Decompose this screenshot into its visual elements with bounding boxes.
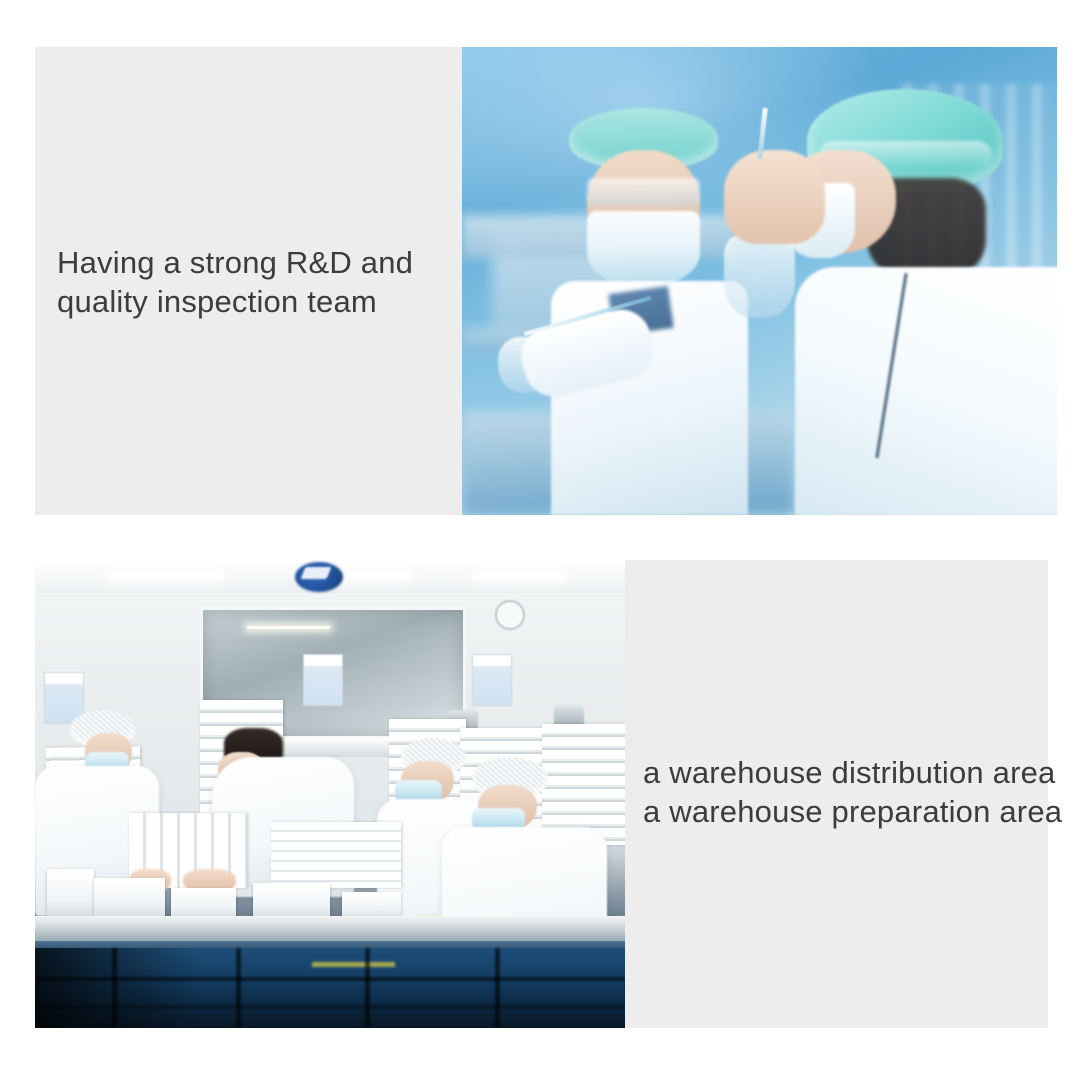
technician-two-raised-hand [724,150,825,244]
technician-two-lab-coat [795,267,1057,515]
technician-one-goggles [587,178,700,206]
warehouse-caption-line-1: a warehouse distribution area [643,753,1043,792]
wall-notice-sign-right [472,654,512,706]
table-leg-2 [236,948,241,1028]
rd-quality-caption: Having a strong R&D and quality inspecti… [57,243,457,321]
window-interior-light [247,626,330,629]
under-table-shadow [35,948,200,1028]
warehouse-packing-photo [35,560,625,1028]
table-box-1 [47,869,94,920]
floor-marking-tape [312,962,395,967]
glass-beaker [724,234,795,318]
warehouse-caption-line-2: a warehouse preparation area [643,792,1043,831]
rd-quality-caption-line-1: Having a strong R&D and [57,243,457,282]
ceiling-light-icon-1 [106,574,224,579]
rd-quality-caption-line-2: quality inspection team [57,282,457,321]
box-row-front-center [271,822,401,888]
table-box-2 [94,878,165,920]
wall-clock-icon [495,600,525,630]
warehouse-caption: a warehouse distribution area a warehous… [643,753,1043,831]
ceiling-light-icon-3 [472,574,566,579]
table-leg-4 [495,948,500,1028]
wall-notice-sign-center [303,654,343,706]
steel-table-top [35,916,625,944]
table-leg-3 [365,948,370,1028]
lab-quality-inspection-photo [462,47,1057,515]
technician-one-face-mask [587,211,700,286]
